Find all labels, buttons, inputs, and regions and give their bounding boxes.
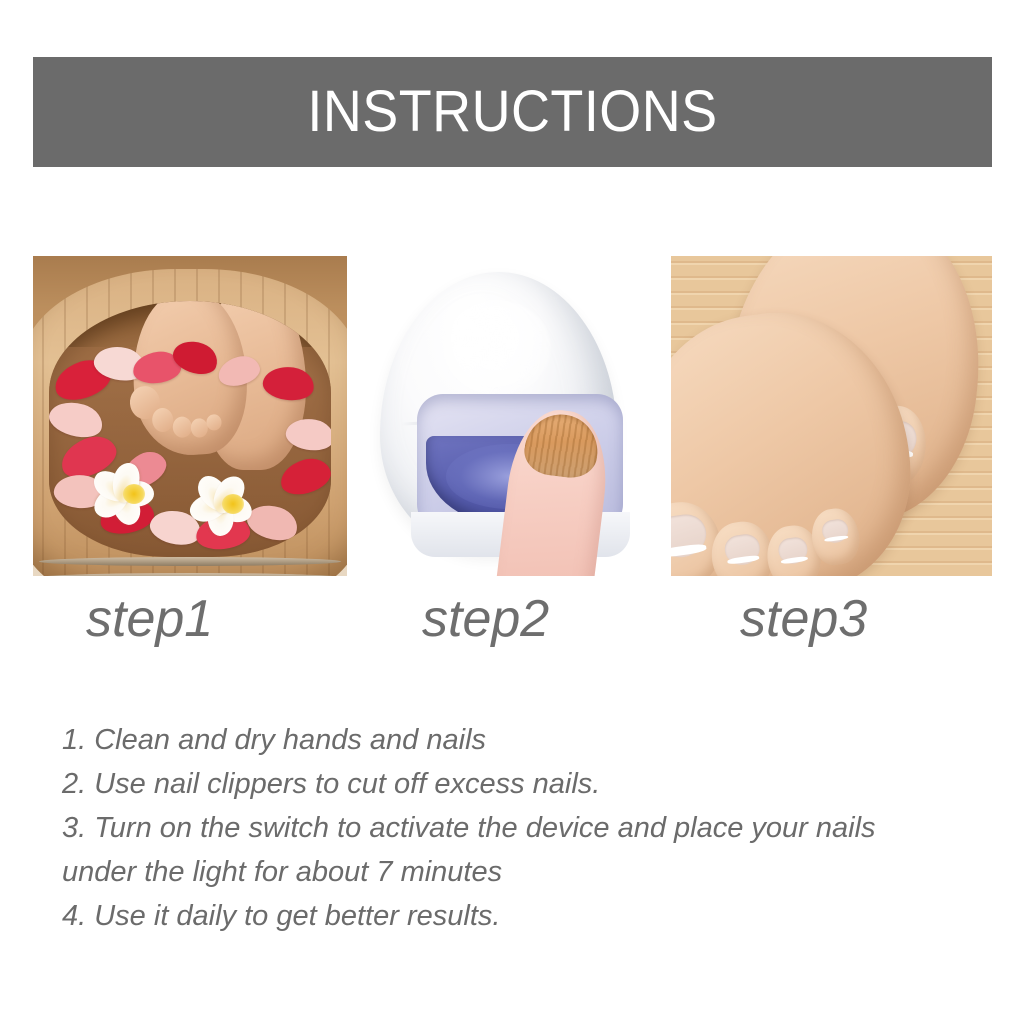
instruction-line: 4. Use it daily to get better results. — [62, 894, 972, 938]
step2-label: step2 — [422, 592, 549, 647]
nail-laser-device-scene — [355, 256, 667, 576]
plumeria-flower — [97, 460, 171, 528]
bamboo-mat-scene — [671, 256, 992, 576]
toe-5 — [206, 413, 222, 430]
instruction-line: 2. Use nail clippers to cut off excess n… — [62, 762, 972, 806]
step3-photo — [671, 256, 992, 576]
instruction-line: 1. Clean and dry hands and nails — [62, 718, 972, 762]
toenail — [723, 532, 762, 566]
step1-label: step1 — [86, 592, 213, 647]
instructions-infographic: INSTRUCTIONS — [0, 0, 1024, 1024]
toe-2 — [152, 406, 175, 432]
tub-metal-hoop — [39, 573, 340, 576]
toenail — [777, 536, 810, 566]
tub-interior — [49, 301, 332, 557]
device-highlight — [442, 300, 551, 396]
step3-label: step3 — [740, 592, 867, 647]
plumeria-flower — [196, 470, 270, 538]
step2-photo — [355, 256, 667, 576]
toenail — [671, 512, 710, 561]
toenail — [821, 518, 850, 544]
instruction-line-continuation: under the light for about 7 minutes — [62, 850, 972, 894]
step1-photo — [33, 256, 347, 576]
instructions-list: 1. Clean and dry hands and nails 2. Use … — [62, 718, 972, 938]
instruction-line: 3. Turn on the switch to activate the de… — [62, 806, 972, 850]
page-title: INSTRUCTIONS — [307, 83, 717, 141]
header-banner: INSTRUCTIONS — [33, 57, 992, 167]
foot-bath-scene — [33, 256, 347, 576]
